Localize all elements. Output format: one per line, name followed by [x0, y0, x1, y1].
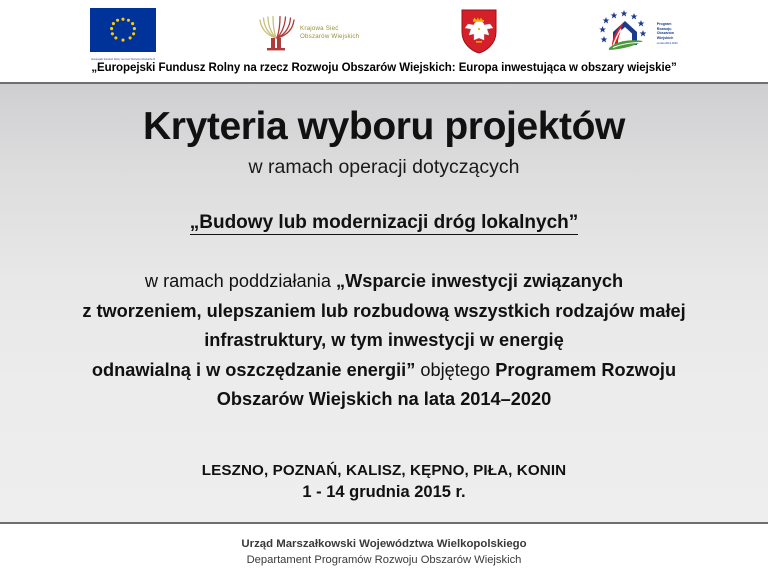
event-cities: LESZNO, POZNAŃ, KALISZ, KĘPNO, PIŁA, KON… [0, 462, 768, 479]
measure-description: w ramach poddziałania „Wsparcie inwestyc… [24, 267, 744, 415]
ksow-logo-line1: Krajowa Sieć [300, 25, 359, 33]
ksow-sheaf-icon [257, 8, 297, 57]
measure-line4-bold-a: odnawialną i w oszczędzanie energii” [92, 360, 420, 380]
measure-line3: infrastruktury, w tym inwestycji w energ… [204, 330, 563, 350]
wielkopolska-eagle-icon [460, 8, 498, 59]
measure-line5: Obszarów Wiejskich na lata 2014–2020 [217, 389, 551, 409]
wielkopolska-coat-of-arms-slot [460, 8, 498, 59]
operation-scope-text: „Budowy lub modernizacji dróg lokalnych” [190, 212, 579, 235]
page-title: Kryteria wyboru projektów [0, 105, 768, 149]
prow-logo-years: na lata 2014-2020 [657, 42, 678, 45]
measure-line1-bold: „Wsparcie inwestycji związanych [336, 271, 623, 291]
eu-flag-caption: Europejski Fundusz Rolny na rzecz Rozwoj… [91, 58, 155, 61]
eu-flag-icon [90, 8, 156, 57]
slide-body: Kryteria wyboru projektów w ramach opera… [0, 84, 768, 524]
slide-footer: Urząd Marszałkowski Województwa Wielkopo… [0, 526, 768, 576]
slide-header: Europejski Fundusz Rolny na rzecz Rozwoj… [0, 0, 768, 84]
measure-line1-regular: w ramach poddziałania [145, 271, 336, 291]
eu-flag-logo-slot: Europejski Fundusz Rolny na rzecz Rozwoj… [90, 8, 156, 61]
page-subtitle: w ramach operacji dotyczących [0, 156, 768, 179]
footer-organization: Urząd Marszałkowski Województwa Wielkopo… [0, 536, 768, 552]
prow-emblem-icon [599, 8, 653, 59]
eu-funding-banner: „Europejski Fundusz Rolny na rzecz Rozwo… [0, 62, 768, 74]
prow-logo-slot: Program Rozwoju Obszarów Wiejskich na la… [599, 8, 678, 59]
footer-divider [0, 522, 768, 524]
measure-line4-bold-b: Programem Rozwoju [495, 360, 676, 380]
measure-line2: z tworzeniem, ulepszaniem lub rozbudową … [82, 301, 685, 321]
event-dates: 1 - 14 grudnia 2015 r. [0, 483, 768, 502]
logo-row: Europejski Fundusz Rolny na rzecz Rozwoj… [0, 8, 768, 64]
prow-logo-line4: Wiejskich [657, 36, 678, 41]
footer-department: Departament Programów Rozwoju Obszarów W… [0, 552, 768, 568]
presentation-slide: Europejski Fundusz Rolny na rzecz Rozwoj… [0, 0, 768, 576]
ksow-logo-slot: Krajowa Sieć Obszarów Wiejskich [257, 8, 359, 57]
ksow-logo-line2: Obszarów Wiejskich [300, 33, 359, 41]
measure-line4-regular: objętego [420, 360, 495, 380]
operation-scope: „Budowy lub modernizacji dróg lokalnych” [0, 212, 768, 234]
